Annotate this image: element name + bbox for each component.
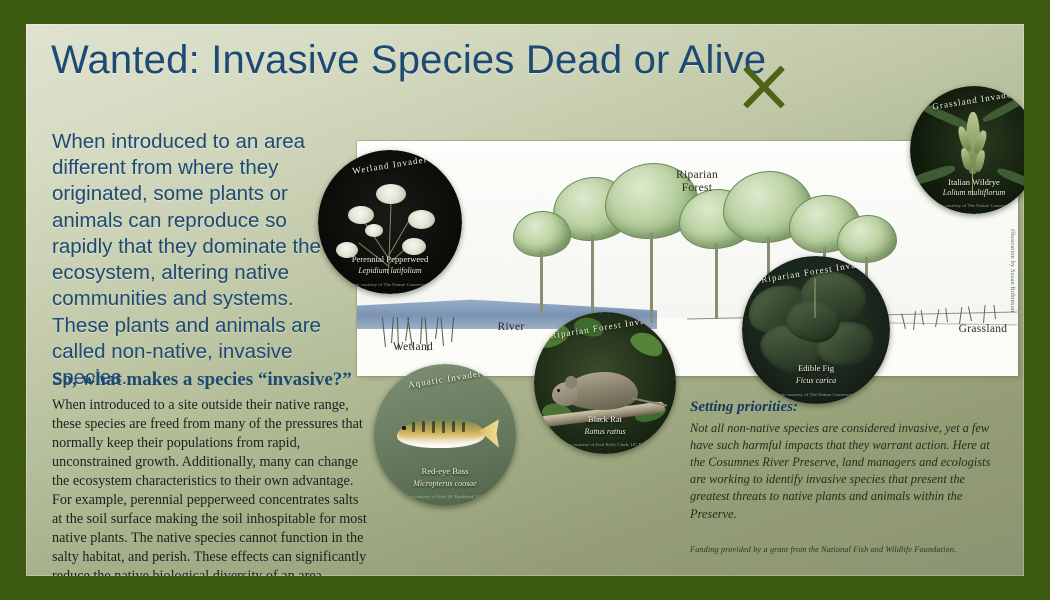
- medallion-photo-credit: Photo courtesy of Noel M. Burkhead, USGS: [374, 494, 516, 499]
- intro-paragraph: When introduced to an area different fro…: [52, 129, 352, 391]
- medallion-wetland-invader[interactable]: Wetland Invader Perennial Pepperweed Lep…: [318, 150, 462, 294]
- habitat-label-riparian-forest: Riparian Forest: [657, 169, 737, 195]
- medallion-artwork-pepperweed: Wetland Invader Perennial Pepperweed Lep…: [318, 150, 462, 294]
- medallion-common-name: Edible Fig: [742, 363, 890, 373]
- medallion-scientific-name: Lolium multiflorum: [910, 188, 1024, 197]
- priorities-body: Not all non-native species are considere…: [690, 420, 998, 523]
- medallion-common-name: Perennial Pepperweed: [318, 254, 462, 264]
- medallion-riparian-invader-fig[interactable]: Riparian Forest Invader Edible Fig Ficus…: [742, 256, 890, 404]
- medallion-artwork-wildrye: Grassland Invader Italian Wildrye Lolium…: [910, 86, 1024, 214]
- habitat-label-grassland: Grassland: [943, 323, 1018, 336]
- medallion-artwork-edible-fig: Riparian Forest Invader Edible Fig Ficus…: [742, 256, 890, 404]
- medallion-artwork-black-rat: Riparian Forest Invader Black Rat Rattus…: [534, 312, 676, 454]
- question-body: When introduced to a site outside their …: [52, 396, 372, 576]
- medallion-riparian-invader-rat[interactable]: Riparian Forest Invader Black Rat Rattus…: [534, 312, 676, 454]
- medallion-common-name: Italian Wildrye: [910, 177, 1024, 187]
- habitat-label-riparian-line2: Forest: [657, 182, 737, 195]
- medallion-grassland-invader[interactable]: Grassland Invader Italian Wildrye Lolium…: [910, 86, 1024, 214]
- medallion-photo-credit: Photo courtesy of The Nature Conservancy: [742, 392, 890, 397]
- habitat-label-river: River: [481, 321, 541, 334]
- medallion-photo-credit: Photo courtesy of The Nature Conservancy: [910, 203, 1024, 208]
- page-title-container: Wanted: Invasive Species Dead or Alive: [51, 38, 766, 83]
- medallion-common-name: Black Rat: [534, 414, 676, 424]
- funding-credit: Funding provided by a grant from the Nat…: [690, 545, 1020, 554]
- artist-credit: Illustration by Susan Robinson: [1009, 229, 1015, 312]
- medallion-aquatic-invader[interactable]: Aquatic Invader Red-eye Bass Micropterus…: [374, 364, 516, 506]
- medallion-photo-credit: Photo courtesy of The Nature Conservancy: [318, 282, 462, 287]
- medallion-scientific-name: Rattus rattus: [534, 427, 676, 436]
- medallion-artwork-redeye-bass: Aquatic Invader Red-eye Bass Micropterus…: [374, 364, 516, 506]
- medallion-scientific-name: Ficus carica: [742, 376, 890, 385]
- medallion-common-name: Red-eye Bass: [374, 466, 516, 476]
- medallion-scientific-name: Lepidium latifolium: [318, 266, 462, 275]
- fish-body: [397, 419, 485, 447]
- medallion-photo-credit: Photo courtesy of Jack Kelly Clark, UC D…: [534, 442, 676, 447]
- sign-panel: Wanted: Invasive Species Dead or Alive W…: [26, 24, 1024, 576]
- priorities-heading: Setting priorities:: [690, 399, 1000, 416]
- medallion-scientific-name: Micropterus coosae: [374, 479, 516, 488]
- page-title: Wanted: Invasive Species Dead or Alive: [51, 38, 766, 83]
- habitat-label-riparian-line1: Riparian: [657, 169, 737, 182]
- interpretive-sign: Wanted: Invasive Species Dead or Alive W…: [0, 0, 1050, 600]
- habitat-label-wetland: Wetland: [378, 341, 448, 354]
- question-heading: So, what makes a species “invasive?”: [52, 369, 372, 391]
- fish-eye: [402, 426, 406, 430]
- rat-ear: [565, 376, 576, 389]
